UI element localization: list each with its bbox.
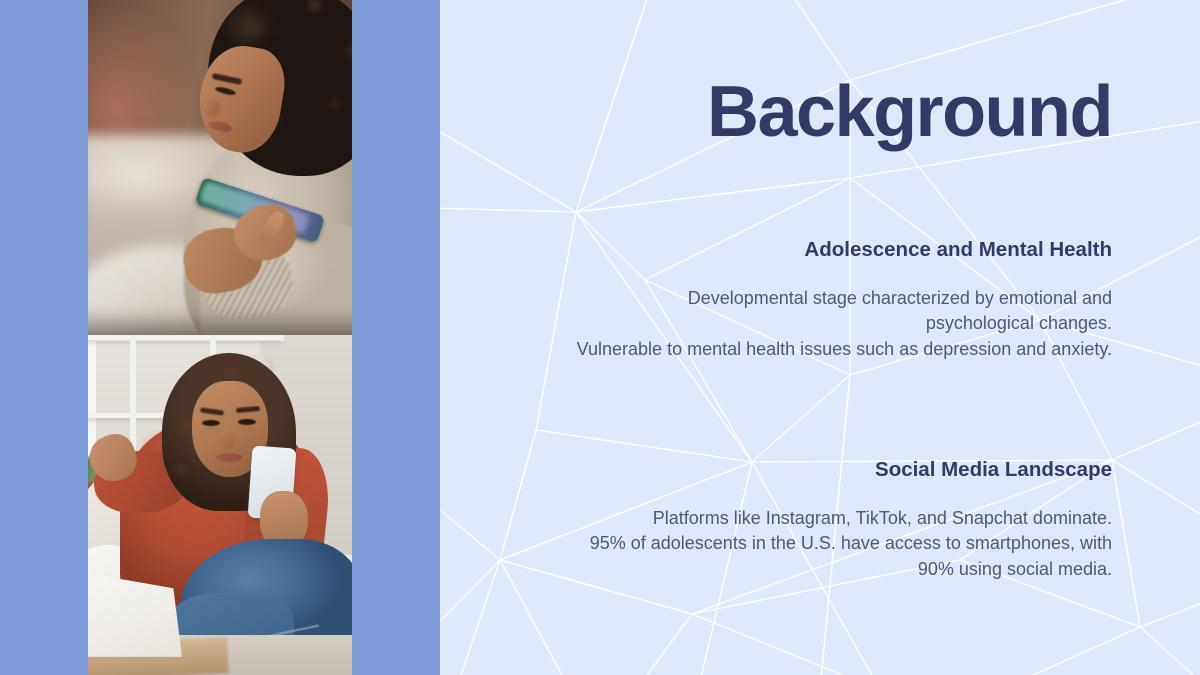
section-1-line-1: Developmental stage characterized by emo… — [492, 286, 1112, 312]
photo2-eye-left — [202, 420, 220, 426]
page-title: Background — [707, 76, 1112, 148]
section-2-line-1: Platforms like Instagram, TikTok, and Sn… — [492, 506, 1112, 532]
photo2-mouth — [216, 453, 242, 462]
section-2-line-2: 95% of adolescents in the U.S. have acce… — [492, 531, 1112, 557]
slide: Background Adolescence and Mental Health… — [0, 0, 1200, 675]
section-2-heading: Social Media Landscape — [492, 457, 1112, 484]
content-panel: Background Adolescence and Mental Health… — [440, 0, 1200, 675]
photo2-shelf-board — [88, 335, 282, 340]
photo1-nose — [204, 100, 220, 117]
section-2-line-3: 90% using social media. — [492, 557, 1112, 583]
photo-column — [88, 0, 352, 675]
section-1-body: Developmental stage characterized by emo… — [492, 286, 1112, 363]
section-1-heading: Adolescence and Mental Health — [492, 237, 1112, 264]
section-1-line-2: psychological changes. — [492, 311, 1112, 337]
photo1-foreground-shadow — [88, 309, 352, 335]
section-2-body: Platforms like Instagram, TikTok, and Sn… — [492, 506, 1112, 583]
section-adolescence-and-mental-health: Adolescence and Mental Health Developmen… — [492, 237, 1112, 362]
panel-content: Background Adolescence and Mental Health… — [440, 0, 1200, 675]
section-social-media-landscape: Social Media Landscape Platforms like In… — [492, 457, 1112, 582]
photo2-nose — [220, 429, 235, 449]
photo-teen-using-phone-in-bed — [88, 0, 352, 335]
photo2-eye-right — [238, 419, 256, 425]
section-1-line-3: Vulnerable to mental health issues such … — [492, 337, 1112, 363]
photo-woman-frowning-at-phone-on-sofa — [88, 335, 352, 675]
